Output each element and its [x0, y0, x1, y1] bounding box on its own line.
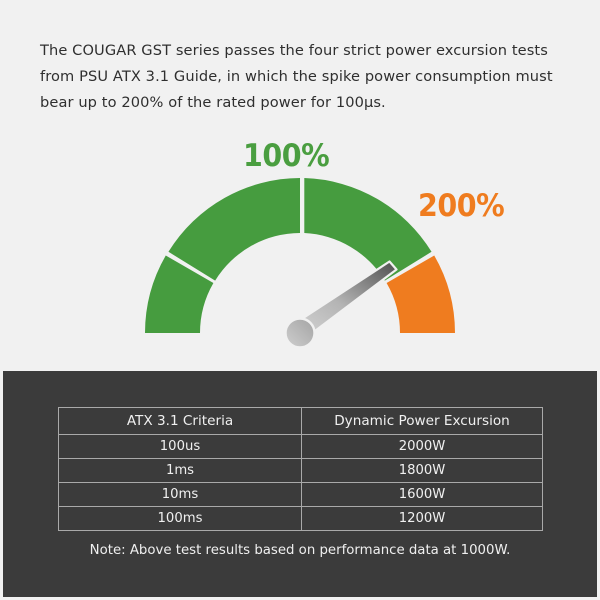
- results-panel: ATX 3.1 Criteria Dynamic Power Excursion…: [3, 371, 597, 597]
- table-row: 100ms 1200W: [59, 507, 543, 531]
- cell-excursion: 1200W: [302, 507, 543, 531]
- gauge-needle: [286, 262, 397, 348]
- intro-paragraph: The COUGAR GST series passes the four st…: [40, 38, 565, 116]
- gauge-chart: 100% 200%: [0, 128, 600, 358]
- results-table: ATX 3.1 Criteria Dynamic Power Excursion…: [58, 407, 543, 531]
- table-note: Note: Above test results based on perfor…: [3, 543, 597, 558]
- cell-criteria: 10ms: [59, 483, 302, 507]
- cell-excursion: 1800W: [302, 459, 543, 483]
- cell-excursion: 1600W: [302, 483, 543, 507]
- table-header-row: ATX 3.1 Criteria Dynamic Power Excursion: [59, 408, 543, 435]
- gauge-label-200: 200%: [418, 188, 504, 224]
- page-root: The COUGAR GST series passes the four st…: [0, 0, 600, 600]
- cell-excursion: 2000W: [302, 435, 543, 459]
- gauge-segment-2: [168, 178, 300, 281]
- table-row: 100us 2000W: [59, 435, 543, 459]
- cell-criteria: 1ms: [59, 459, 302, 483]
- gauge-label-100: 100%: [243, 138, 329, 174]
- table-row: 1ms 1800W: [59, 459, 543, 483]
- table-row: 10ms 1600W: [59, 483, 543, 507]
- table-header-excursion: Dynamic Power Excursion: [302, 408, 543, 435]
- cell-criteria: 100us: [59, 435, 302, 459]
- gauge-segment-3: [304, 178, 431, 281]
- cell-criteria: 100ms: [59, 507, 302, 531]
- table-header-criteria: ATX 3.1 Criteria: [59, 408, 302, 435]
